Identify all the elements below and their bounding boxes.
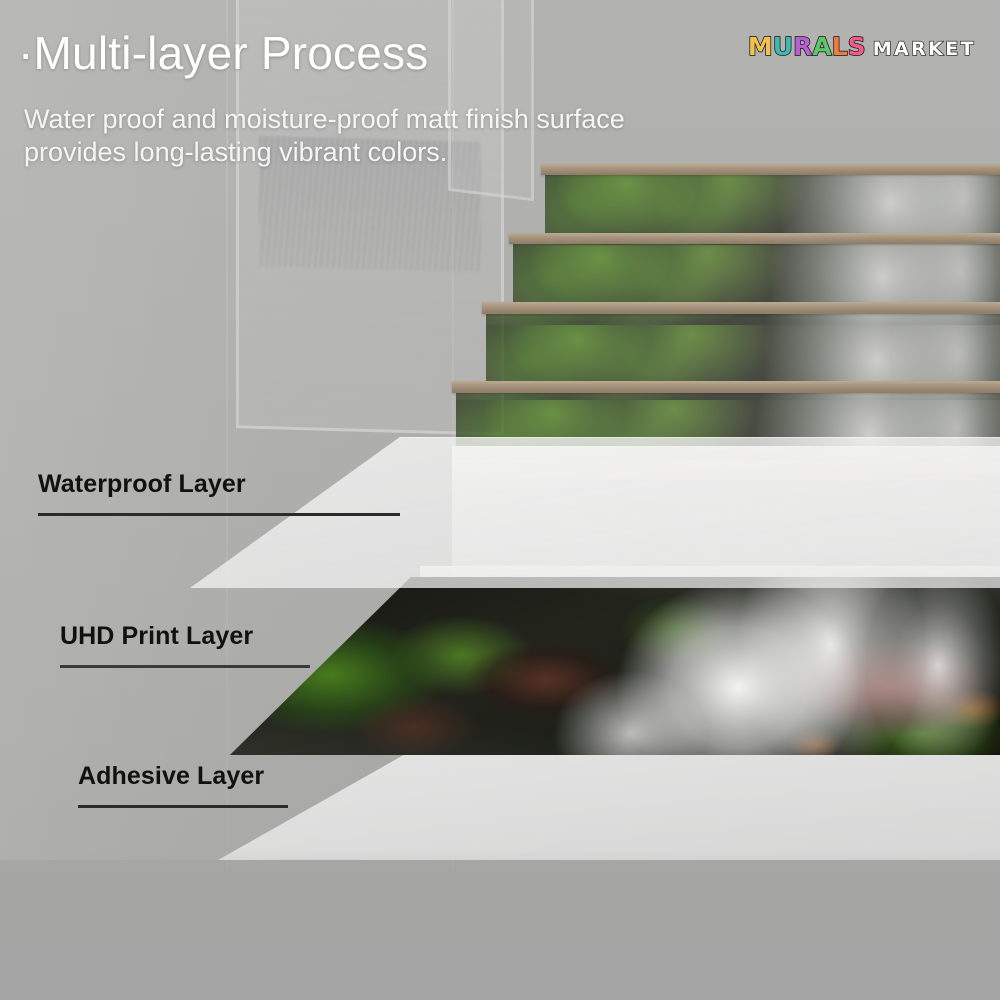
stair-tread [509,233,1000,244]
brand-logo-letter-r-2: R [793,32,812,61]
page-subtitle: Water proof and moisture-proof matt fini… [24,103,625,170]
stair-riser [486,311,1000,383]
brand-logo-letter-l-4: L [832,32,848,61]
layer-label-waterproof: Waterproof Layer [38,470,400,516]
brand-logo-letter-a-3: A [812,32,831,61]
brand-logo-letter-u-1: U [773,32,793,61]
layer-label-text: Adhesive Layer [78,762,288,791]
brand-logo-market: MARKET [873,38,976,60]
stair-riser [545,172,1000,234]
layer-label-text: UHD Print Layer [60,622,310,651]
title-bullet: · [18,27,34,79]
stair-tread [482,302,1000,314]
infographic-canvas: Waterproof Layer UHD Print Layer Adhesiv… [0,0,1000,1000]
subtitle-line-1: Water proof and moisture-proof matt fini… [24,103,625,136]
layer-label-rule [38,513,400,516]
brand-logo-murals: MURALS [748,32,866,61]
subtitle-line-2: provides long-lasting vibrant colors. [24,136,625,169]
title-text: Multi-layer Process [34,27,429,79]
layer-label-rule [60,665,310,668]
stair-riser [513,241,1000,305]
layer-label-text: Waterproof Layer [38,470,400,499]
brand-logo-letter-s-5: S [848,32,866,61]
brand-logo-letter-m-0: M [748,32,773,61]
stair-tread [452,381,1000,393]
layer-label-adhesive: Adhesive Layer [78,762,288,808]
brand-logo[interactable]: MURALS MARKET [748,32,976,61]
layer-label-rule [78,805,288,808]
layer-label-uhd-print: UHD Print Layer [60,622,310,668]
page-title: ·Multi-layer Process [18,26,428,80]
